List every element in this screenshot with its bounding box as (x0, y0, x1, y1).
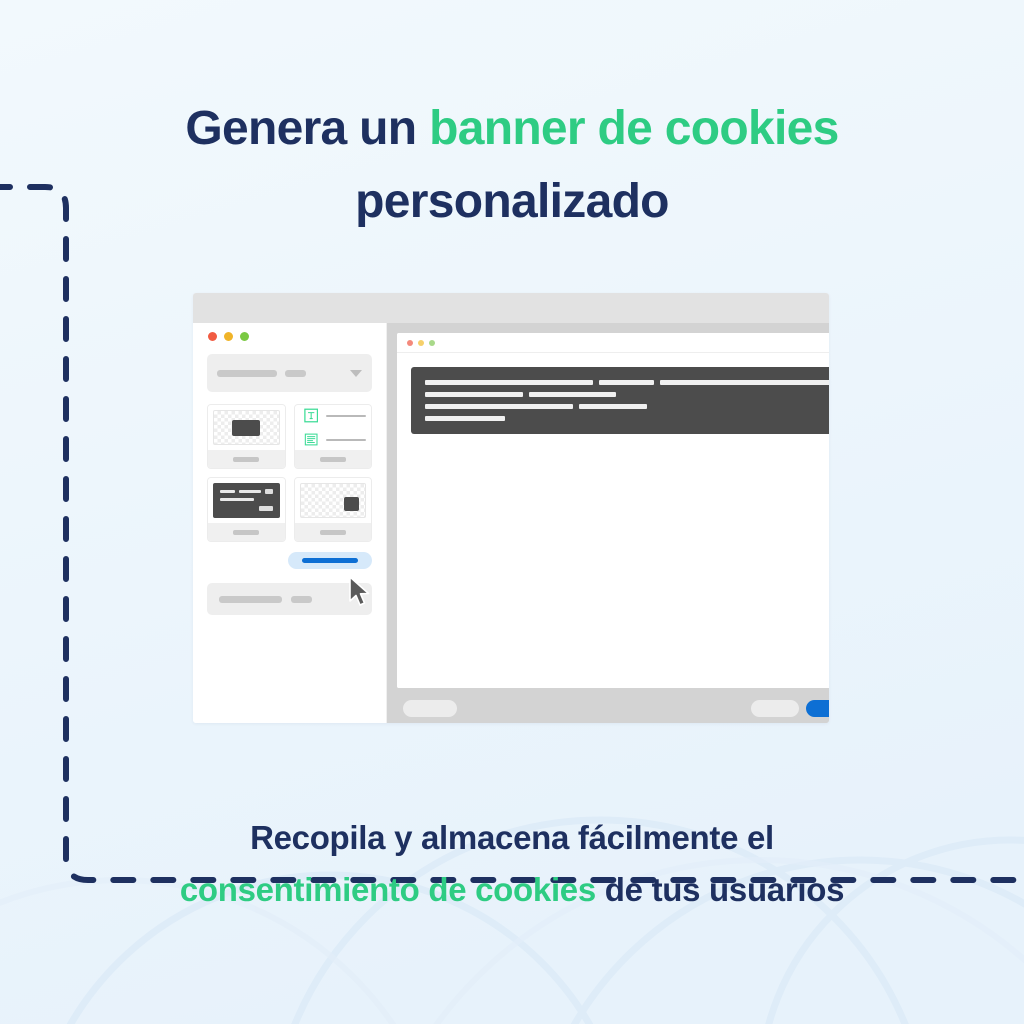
template-category-dropdown[interactable] (207, 354, 372, 392)
page-title-line1-prefix: Genera un (185, 102, 429, 155)
preview-toolbar (387, 693, 829, 723)
browser-maximize-icon (429, 340, 435, 346)
settings-button[interactable] (403, 700, 457, 717)
placeholder-bar (599, 380, 654, 385)
text-box-icon (304, 408, 318, 423)
placeholder-bar (425, 416, 505, 421)
search-input[interactable] (207, 583, 372, 615)
window-body (193, 323, 829, 723)
placeholder-bar (239, 490, 261, 493)
template-card-grid (207, 404, 372, 542)
transparency-checkerboard-icon (213, 410, 280, 445)
dark-banner-preview (213, 483, 280, 518)
template-name-placeholder (233, 530, 259, 535)
close-window-icon[interactable] (208, 332, 217, 341)
editor-sidebar (193, 323, 387, 723)
template-card-image-corner[interactable] (294, 477, 373, 542)
text-placeholder-line (326, 415, 366, 417)
template-name-placeholder (320, 457, 346, 462)
placeholder-accept-button (259, 506, 273, 511)
text-template-preview (300, 410, 367, 445)
page-title: Genera un banner de cookies personalizad… (0, 93, 1024, 239)
cookie-banner-text-row (425, 404, 829, 409)
template-thumbnail (208, 405, 285, 450)
text-placeholder-line (326, 439, 366, 441)
template-card-image-center[interactable] (207, 404, 286, 469)
browser-minimize-icon (418, 340, 424, 346)
cookie-banner-text-row (425, 392, 829, 397)
dropdown-label-placeholder (217, 370, 277, 377)
image-placeholder-block (344, 497, 359, 511)
placeholder-bar (425, 392, 523, 397)
template-thumbnail (208, 478, 285, 523)
page-subtitle-line1: Recopila y almacena fácilmente el (250, 819, 774, 856)
cookie-banner-text-row (425, 416, 829, 421)
selected-option-bar (302, 558, 358, 563)
placeholder-bar (579, 404, 647, 409)
cookie-banner-preview[interactable] (411, 367, 829, 434)
page-title-accent: banner de cookies (429, 102, 839, 155)
template-thumbnail (295, 478, 372, 523)
template-name-placeholder (233, 457, 259, 462)
transparency-checkerboard-icon (300, 483, 367, 518)
selected-option-pill[interactable] (288, 552, 372, 569)
template-card-footer (208, 450, 285, 468)
placeholder-bar (220, 498, 254, 501)
placeholder-bar (220, 490, 235, 493)
browser-titlebar (397, 333, 829, 353)
search-value-placeholder (291, 596, 312, 603)
template-name-placeholder (320, 530, 346, 535)
browser-content-area (397, 353, 829, 688)
template-card-footer (208, 523, 285, 541)
placeholder-button (265, 489, 273, 494)
placeholder-bar (425, 404, 573, 409)
text-lines-icon (304, 432, 318, 447)
cancel-button[interactable] (751, 700, 799, 717)
cookie-banner-text-row (425, 380, 829, 385)
window-traffic-lights (193, 323, 386, 341)
template-card-dark-banner[interactable] (207, 477, 286, 542)
template-card-footer (295, 523, 372, 541)
preview-pane (387, 323, 829, 723)
text-row-2 (304, 432, 367, 447)
search-label-placeholder (219, 596, 282, 603)
page-subtitle: Recopila y almacena fácilmente el consen… (0, 812, 1024, 916)
template-card-footer (295, 450, 372, 468)
browser-close-icon (407, 340, 413, 346)
page-subtitle-line2: de tus usuarios (596, 871, 844, 908)
browser-preview-frame (397, 333, 829, 688)
maximize-window-icon[interactable] (240, 332, 249, 341)
chevron-down-icon (350, 370, 362, 377)
minimize-window-icon[interactable] (224, 332, 233, 341)
image-placeholder-block (232, 420, 260, 436)
dropdown-value-placeholder (285, 370, 306, 377)
app-window-mockup (193, 293, 829, 723)
text-row-1 (304, 408, 367, 423)
page-subtitle-accent: consentimiento de cookies (180, 871, 596, 908)
dark-banner-row (220, 489, 273, 494)
template-card-text-rows[interactable] (294, 404, 373, 469)
placeholder-bar (425, 380, 593, 385)
save-button[interactable] (806, 700, 829, 717)
template-thumbnail (295, 405, 372, 450)
dark-banner-row (220, 498, 273, 501)
placeholder-bar (660, 380, 829, 385)
window-titlebar (193, 293, 829, 323)
page-title-line2: personalizado (355, 175, 669, 228)
placeholder-bar (529, 392, 616, 397)
